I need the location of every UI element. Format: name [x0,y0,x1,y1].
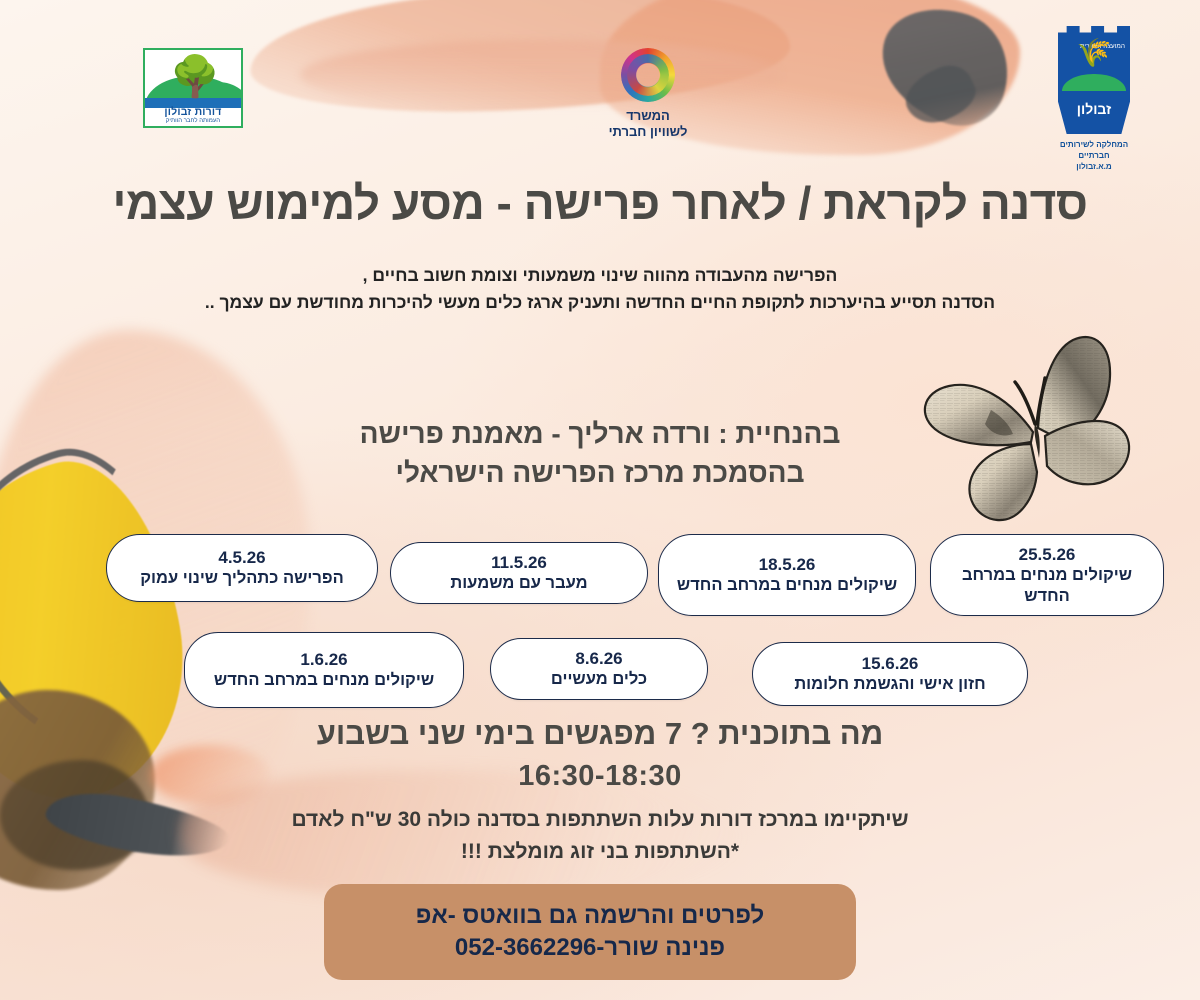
logo-dorot-tagline: העמותה לחבר הוותיק [166,118,220,124]
logo-ministry-social-equality: המשרד לשוויון חברתי [588,48,708,141]
session-bubble-1[interactable]: 4.5.26 הפרישה כתהליך שינוי עמוק [106,534,378,602]
program-details-line-2: *השתתפות בני זוג מומלצת !!! [0,836,1200,868]
session-date: 8.6.26 [575,648,622,669]
session-topic: הפרישה כתהליך שינוי עמוק [140,568,344,589]
intro-paragraph: הפרישה מהעבודה מהווה שינוי משמעותי וצומת… [0,262,1200,316]
intro-line-1: הפרישה מהעבודה מהווה שינוי משמעותי וצומת… [0,262,1200,289]
session-topic: שיקולים מנחים במרחב החדש [214,670,434,691]
program-details: שיתקיימו במרכז דורות עלות השתתפות בסדנה … [0,804,1200,867]
poster-canvas: 🌳 דורות זבולון העמותה לחבר הוותיק המשרד … [0,0,1200,1000]
contact-line-1: לפרטים והרשמה גם בוואטס -אפ [416,900,764,932]
olive-tree-icon: 🌳 [163,54,227,100]
program-time: 16:30-18:30 [0,760,1200,793]
intro-line-2: הסדנה תסייע בהיערכות לתקופת החיים החדשה … [0,289,1200,316]
logo-dorot-zvulun: 🌳 דורות זבולון העמותה לחבר הוותיק [143,48,243,128]
logo-ministry-line2: לשוויון חברתי [588,124,708,140]
crest-name: זבולון [1058,101,1130,117]
logo-ministry-line1: המשרד [588,108,708,124]
session-topic: חזון אישי והגשמת חלומות [794,674,985,695]
ministry-social-equality-icon [621,48,675,102]
contact-line-2: פנינה שורר-052-3662296 [455,932,725,964]
session-bubble-3[interactable]: 18.5.26 שיקולים מנחים במרחב החדש [658,534,916,616]
contact-box[interactable]: לפרטים והרשמה גם בוואטס -אפ פנינה שורר-0… [324,884,856,980]
session-bubble-6[interactable]: 8.6.26 כלים מעשיים [490,638,708,700]
session-date: 11.5.26 [491,552,547,573]
wheat-icon: 🌾 [1077,39,1112,67]
newspaper-collage-butterfly-icon [905,332,1160,542]
session-date: 4.5.26 [218,547,265,568]
session-bubble-7[interactable]: 15.6.26 חזון אישי והגשמת חלומות [752,642,1028,706]
session-topic: מעבר עם משמעות [450,573,587,594]
session-date: 18.5.26 [759,554,816,575]
session-topic: כלים מעשיים [551,669,647,690]
program-details-line-1: שיתקיימו במרכז דורות עלות השתתפות בסדנה … [0,804,1200,836]
crest-hill-shape [1062,74,1125,91]
session-topic: שיקולים מנחים במרחב החדש [941,565,1153,606]
session-date: 1.6.26 [300,649,347,670]
logo-zvulun-caption-line1: המחלקה לשירותים [1034,140,1154,151]
logo-dorot-name: דורות זבולון [164,106,221,118]
program-headline: מה בתוכנית ? 7 מפגשים בימי שני בשבוע [0,716,1200,752]
session-date: 25.5.26 [1019,544,1076,565]
page-title: סדנה לקראת / לאחר פרישה - מסע למימוש עצמ… [0,176,1200,230]
session-bubble-5[interactable]: 1.6.26 שיקולים מנחים במרחב החדש [184,632,464,708]
logo-row: 🌳 דורות זבולון העמותה לחבר הוותיק המשרד … [0,0,1200,185]
session-bubble-4[interactable]: 25.5.26 שיקולים מנחים במרחב החדש [930,534,1164,616]
zvulun-tower-crest-icon: המועצה האזורית 🌾 זבולון [1058,26,1130,134]
session-topic: שיקולים מנחים במרחב החדש [677,575,897,596]
logo-zvulun-council: המועצה האזורית 🌾 זבולון המחלקה לשירותים … [1034,26,1154,172]
logo-zvulun-caption: המחלקה לשירותים חברתיים מ.א.זבולון [1034,140,1154,172]
session-list: 4.5.26 הפרישה כתהליך שינוי עמוק 11.5.26 … [0,528,1200,708]
logo-zvulun-caption-line3: מ.א.זבולון [1034,162,1154,173]
session-bubble-2[interactable]: 11.5.26 מעבר עם משמעות [390,542,648,604]
logo-zvulun-caption-line2: חברתיים [1034,151,1154,162]
session-date: 15.6.26 [862,653,919,674]
